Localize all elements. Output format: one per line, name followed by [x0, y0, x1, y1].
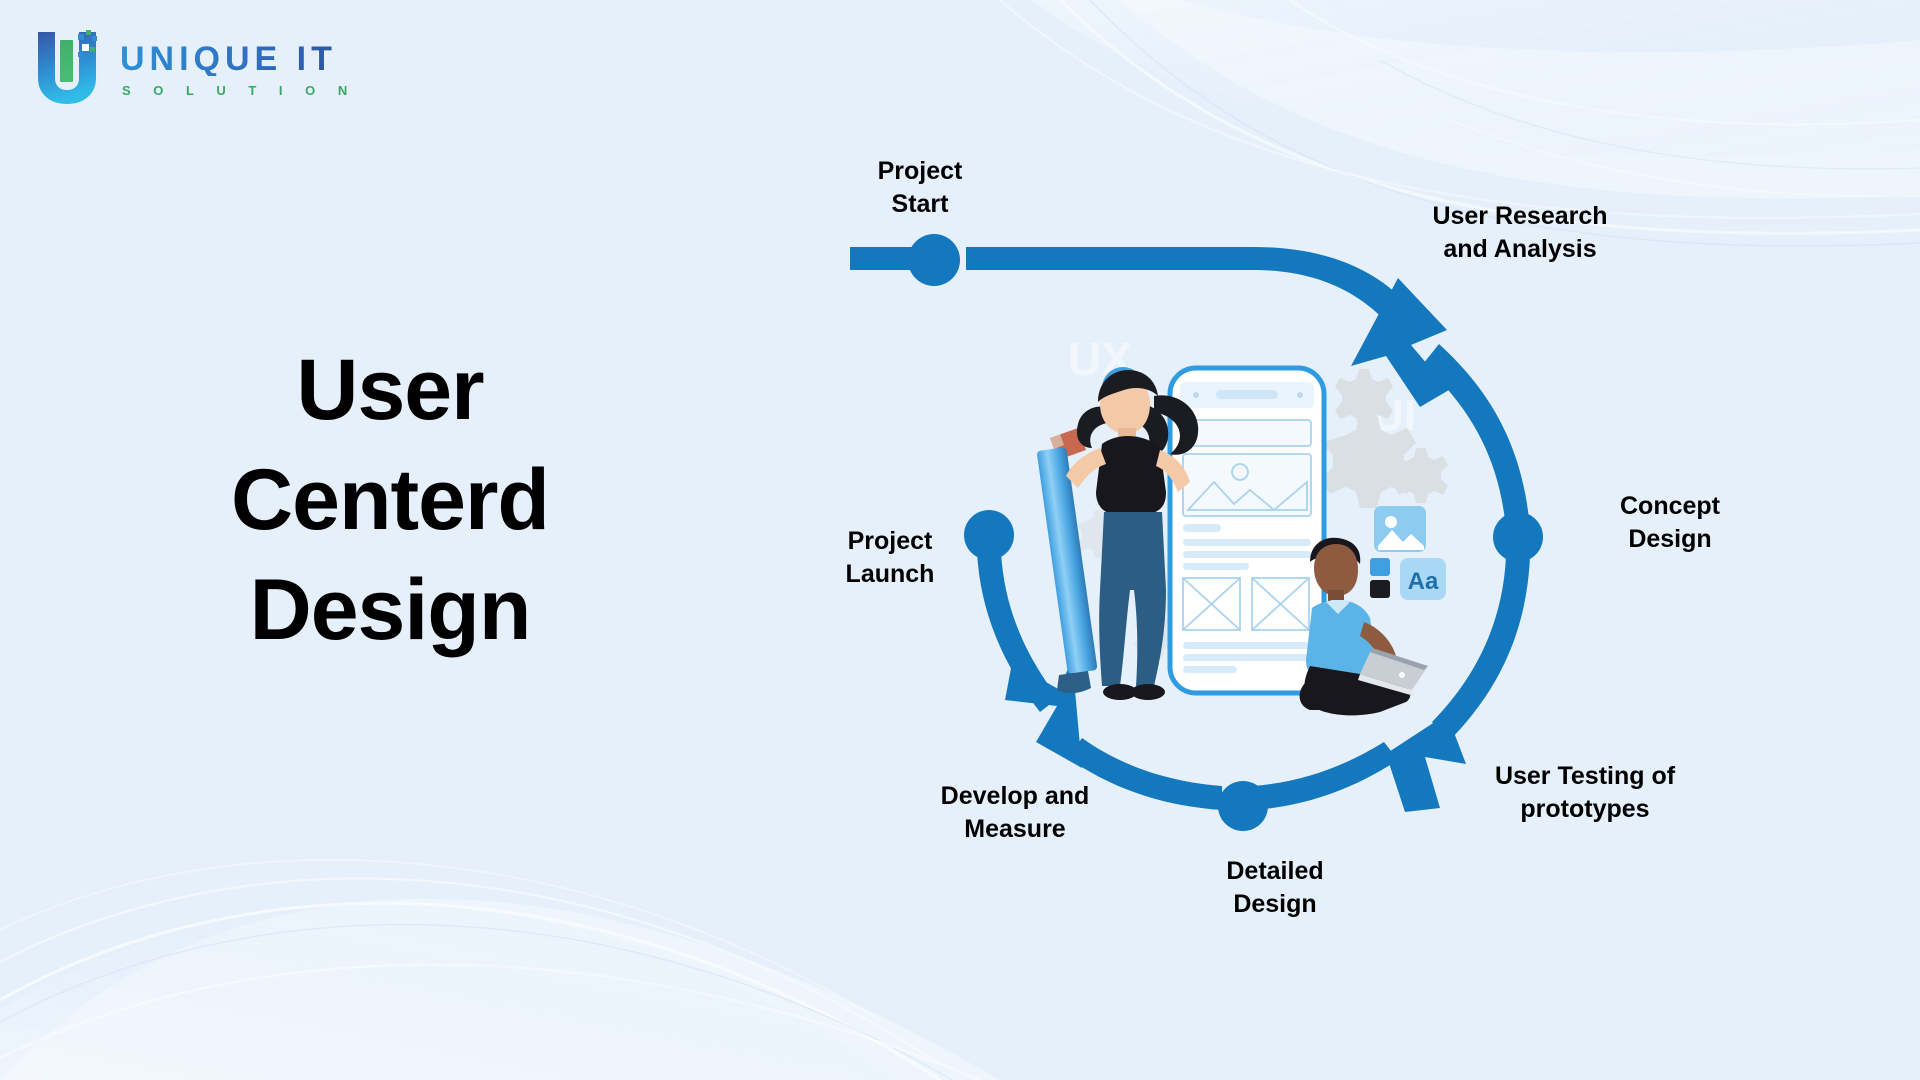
image-icon-card [1374, 506, 1426, 552]
node-dot-project-start [908, 234, 960, 286]
ucd-cycle-diagram: Project Start User Research and Analysis… [0, 0, 1920, 1080]
label-user-research: User Research and Analysis [1375, 200, 1665, 265]
ui-ux-design-illustration: UX UI [1020, 330, 1450, 730]
label-project-start: Project Start [810, 155, 1030, 220]
label-develop-measure: Develop and Measure [880, 780, 1150, 845]
label-concept-design: Concept Design [1555, 490, 1785, 555]
label-project-launch: Project Launch [790, 525, 990, 590]
label-user-testing: User Testing of prototypes [1440, 760, 1730, 825]
arc-start-to-research [966, 247, 1420, 338]
arc-testing-to-detailed [1254, 742, 1398, 810]
node-dot-detailed-design [1218, 781, 1268, 831]
poster-canvas: UNIQUE IT S O L U T I O N User Centerd D… [0, 0, 1920, 1080]
color-swatch-icon [1370, 558, 1390, 598]
node-dot-concept-design [1493, 512, 1543, 562]
label-detailed-design: Detailed Design [1160, 855, 1390, 920]
typography-icon-label: Aa [1408, 568, 1439, 595]
typography-icon-card: Aa [1400, 558, 1446, 600]
